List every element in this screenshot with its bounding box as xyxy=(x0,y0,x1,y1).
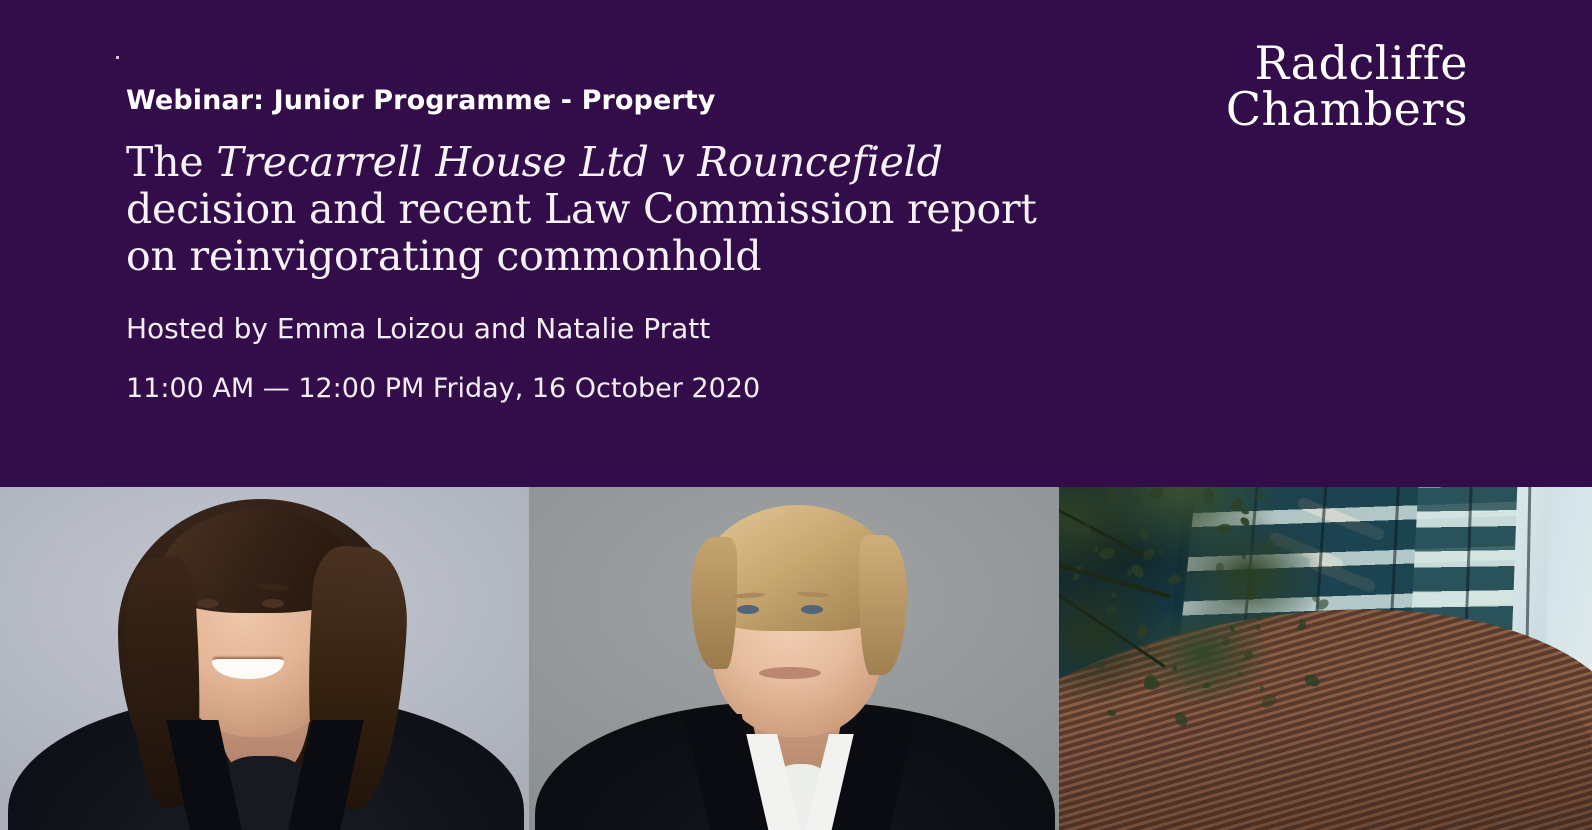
tree-leaf xyxy=(1254,493,1263,500)
hosted-by-line: Hosted by Emma Loizou and Natalie Pratt xyxy=(126,280,1126,346)
tree-leaf xyxy=(1202,488,1215,505)
tree-leaf xyxy=(1217,523,1233,535)
tree-leaf xyxy=(1135,624,1148,640)
tree-leaf xyxy=(1080,522,1092,536)
tree-leaf xyxy=(1236,672,1243,677)
tree-leaf xyxy=(1111,592,1116,598)
portrait-emma-loizou xyxy=(0,487,529,830)
photo-strip xyxy=(0,487,1592,830)
tree-leaf xyxy=(1167,573,1183,586)
tree-leaf xyxy=(1246,586,1257,601)
hero-band: Radcliffe Chambers Webinar: Junior Progr… xyxy=(0,0,1592,487)
tree-leaf xyxy=(1303,672,1322,689)
decorative-speck xyxy=(116,56,119,59)
tree-leaf xyxy=(1174,514,1183,523)
tree-leaf xyxy=(1148,487,1165,500)
tree-leaf xyxy=(1240,508,1249,515)
tree-leaf xyxy=(1223,636,1231,646)
chambers-building-exterior xyxy=(1059,487,1592,830)
tree-leaf xyxy=(1076,566,1082,570)
tree-leaf xyxy=(1067,504,1076,515)
tree-leaf xyxy=(1127,569,1133,577)
tree-leaf xyxy=(1296,623,1307,632)
tree-leaf xyxy=(1169,510,1175,518)
tree-leaf xyxy=(1127,487,1132,489)
webinar-eyebrow: Webinar: Junior Programme - Property xyxy=(126,0,1126,116)
tree-leaf xyxy=(1239,516,1251,528)
tree-leaf xyxy=(1095,662,1105,669)
tree-branch xyxy=(1059,587,1166,668)
tree-leaf xyxy=(1259,693,1278,711)
radcliffe-chambers-logo: Radcliffe Chambers xyxy=(1226,38,1468,134)
tree-leaf xyxy=(1159,549,1163,554)
eye-right xyxy=(262,599,284,608)
hero-text-block: Webinar: Junior Programme - Property The… xyxy=(126,0,1126,405)
tree-leaf xyxy=(1139,527,1150,540)
hair-left-side xyxy=(691,537,737,669)
tree-leaf xyxy=(1215,563,1223,574)
portrait-natalie-pratt xyxy=(529,487,1059,830)
tree-leaf xyxy=(1107,488,1120,504)
eye-left xyxy=(197,599,219,608)
tree-leaf xyxy=(1141,545,1158,562)
tree-leaf xyxy=(1151,540,1158,547)
tree-leaf xyxy=(1106,709,1116,718)
tree-leaf xyxy=(1234,592,1242,600)
event-time-line: 11:00 AM — 12:00 PM Friday, 16 October 2… xyxy=(126,346,1126,405)
tree-leaf xyxy=(1173,710,1190,728)
page-title: The Trecarrell House Ltd v Rouncefield d… xyxy=(126,116,1086,280)
eye-right xyxy=(801,605,823,614)
tree-leaf xyxy=(1241,553,1247,560)
tree-leaf xyxy=(1202,682,1211,690)
tree-foliage xyxy=(1059,487,1359,747)
logo-line-radcliffe: Radcliffe xyxy=(1226,38,1468,88)
tree-leaf xyxy=(1229,625,1236,633)
title-case-name: Trecarrell House Ltd v Rouncefield xyxy=(216,138,942,186)
tree-leaf xyxy=(1259,685,1264,692)
webinar-banner: Radcliffe Chambers Webinar: Junior Progr… xyxy=(0,0,1592,830)
tree-leaf xyxy=(1106,605,1119,615)
tree-leaf xyxy=(1253,623,1262,632)
tree-leaf xyxy=(1099,547,1116,561)
tree-leaf xyxy=(1244,651,1254,659)
tree-leaf xyxy=(1255,614,1263,620)
tree-leaf xyxy=(1261,537,1279,556)
title-suffix: decision and recent Law Commission repor… xyxy=(126,185,1037,280)
tree-leaf xyxy=(1093,546,1098,552)
logo-line-chambers: Chambers xyxy=(1226,84,1468,134)
title-prefix: The xyxy=(126,138,216,186)
tree-leaf xyxy=(1171,665,1177,671)
eye-left xyxy=(737,605,759,614)
lips xyxy=(759,667,821,679)
tree-leaf xyxy=(1143,643,1150,649)
